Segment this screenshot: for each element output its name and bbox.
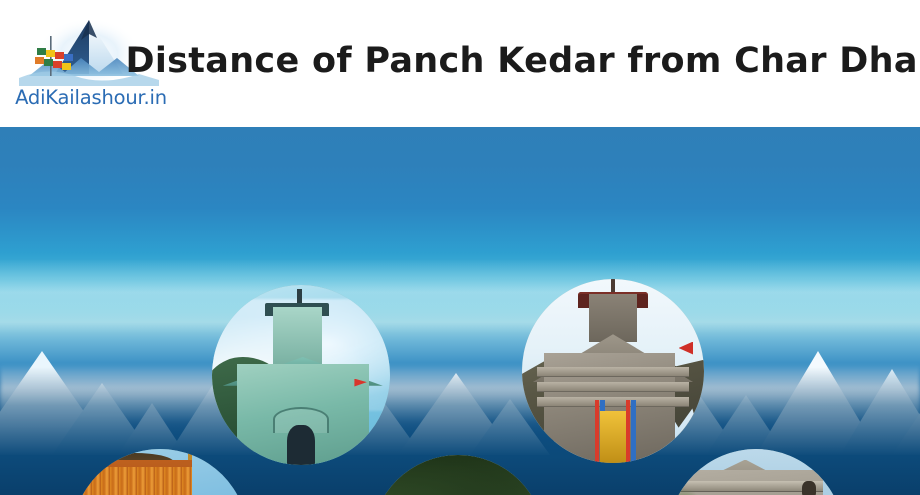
rudranath-marigold-garland — [83, 467, 192, 495]
tungnath-stone-slab — [537, 367, 690, 377]
kalpeshwar-foliage — [668, 488, 703, 495]
page-title: Distance of Panch Kedar from Char Dham — [170, 33, 910, 89]
kalpeshwar-bell-icon — [802, 481, 816, 495]
tungnath-door-stripe — [626, 400, 631, 463]
site-logo-text: AdiKailashour.in — [9, 86, 173, 109]
temple-photo-kalpeshwar[interactable] — [668, 449, 844, 495]
page-root: AdiKailashour.in Distance of Panch Kedar… — [0, 0, 920, 495]
tungnath-stone-slab — [537, 382, 690, 392]
temple-photo-rudranath[interactable] — [72, 449, 248, 495]
temple-photo-tungnath[interactable] — [522, 279, 704, 463]
tungnath-stone-slab — [537, 397, 690, 407]
temple-photo-madhyamaheshwar[interactable] — [372, 455, 544, 495]
temple-photo-kedarnath[interactable] — [212, 285, 390, 465]
tungnath-doorway — [600, 411, 625, 463]
madhyamaheshwar-forest — [372, 455, 544, 495]
page-header: AdiKailashour.in Distance of Panch Kedar… — [0, 0, 920, 127]
kedarnath-doorway — [287, 425, 315, 465]
tungnath-door-stripe — [595, 400, 600, 463]
tungnath-door-stripe — [631, 400, 636, 463]
panch-kedar-hero-banner — [0, 127, 920, 495]
